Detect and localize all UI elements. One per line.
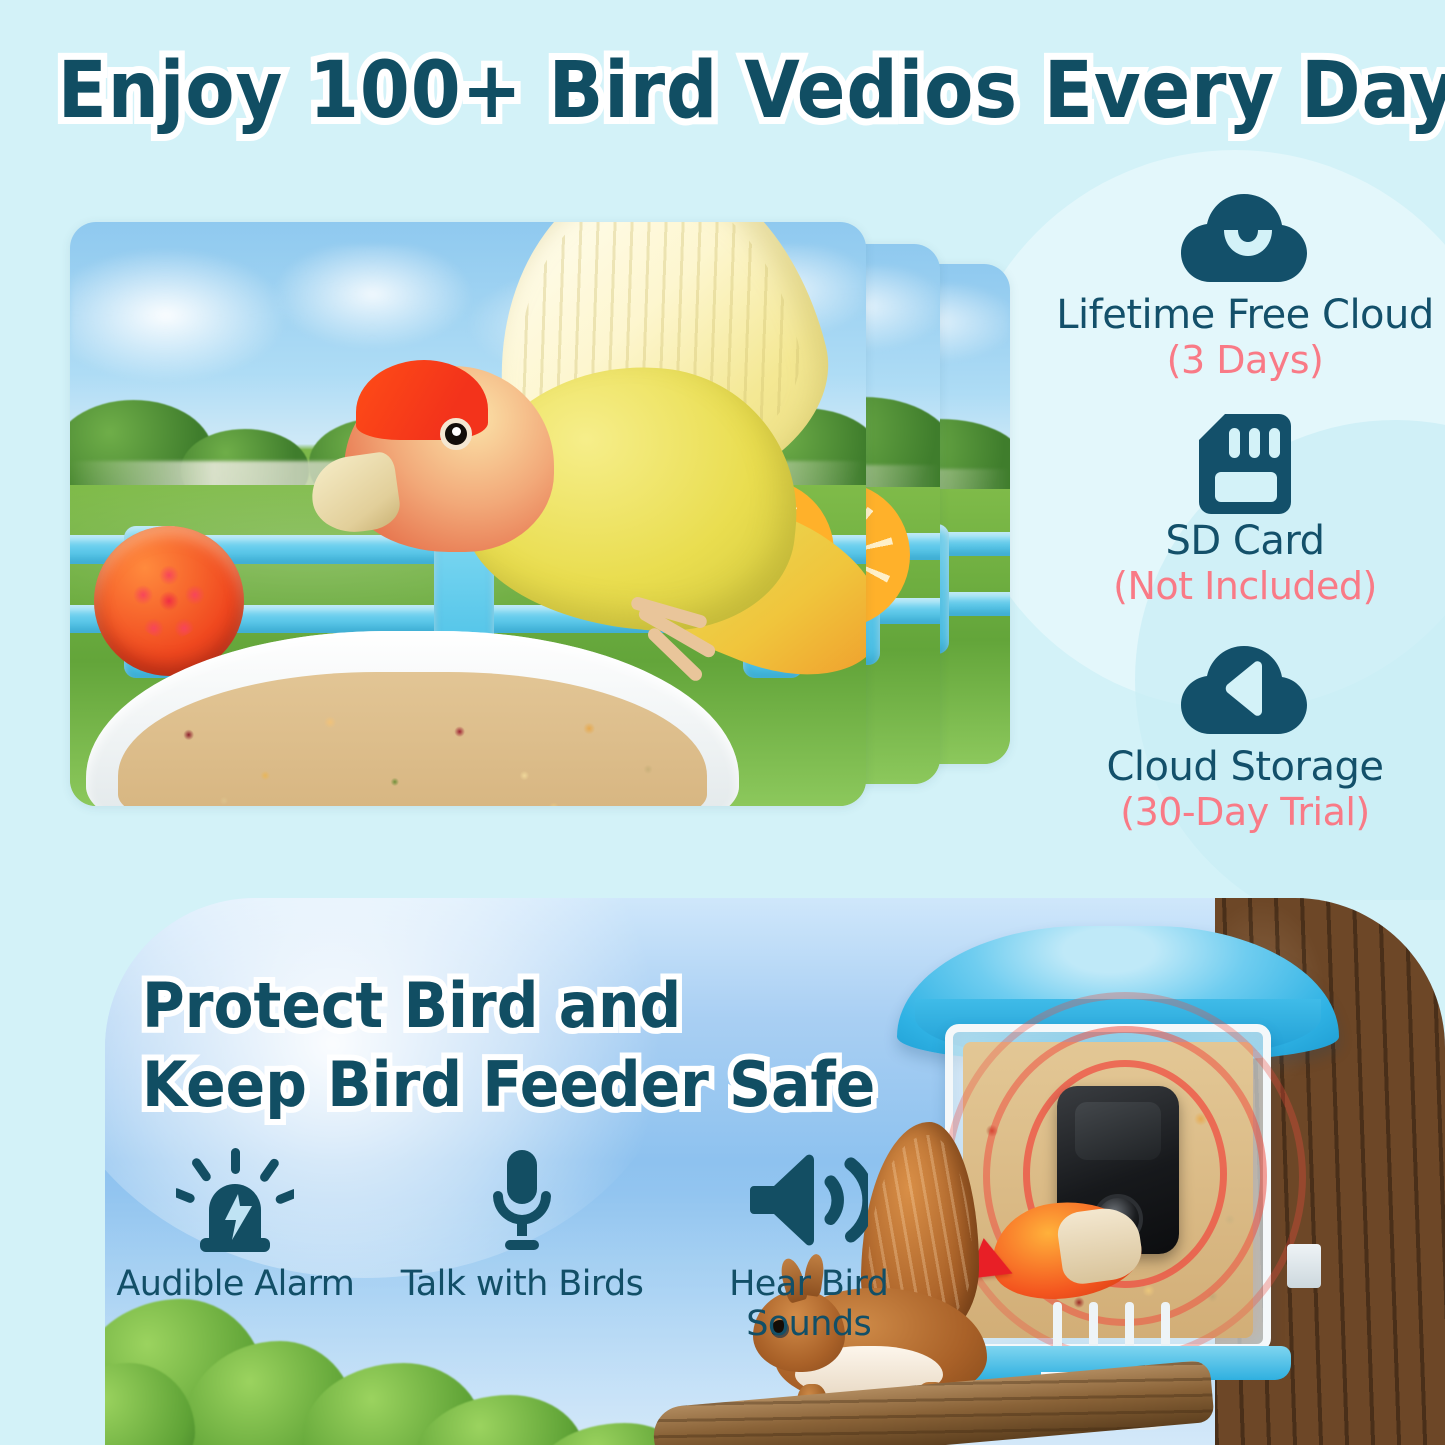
bottom-headline-line2: Keep Bird Feeder Safe [142,1045,988,1124]
feature-subtitle: (30-Day Trial) [1045,790,1445,834]
cloud-playback-icon [1045,638,1445,742]
top-headline: Enjoy 100+ Bird Vedios Every Day [58,46,1387,136]
product-infographic: Enjoy 100+ Bird Vedios Every Day [0,0,1445,1445]
top-section: Enjoy 100+ Bird Vedios Every Day [0,0,1445,900]
sd-card-icon [1045,412,1445,516]
feature-hear-bird-sounds: Hear Bird Sounds [665,1148,952,1344]
feature-talk-with-birds: Talk with Birds [379,1148,666,1344]
bird-photo-gallery [70,222,1010,806]
feature-title: Cloud Storage [1045,744,1445,790]
feature-lifetime-free-cloud: Lifetime Free Cloud (3 Days) [1045,186,1445,382]
bottom-headline: Protect Bird and Keep Bird Feeder Safe [142,966,988,1125]
feature-subtitle: (3 Days) [1045,338,1445,382]
feature-cloud-storage: Cloud Storage (30-Day Trial) [1045,638,1445,834]
feature-subtitle: (Not Included) [1045,564,1445,608]
feature-audible-alarm: Audible Alarm [92,1148,379,1344]
siren-alarm-icon [92,1148,379,1252]
lovebird-subject [300,222,860,806]
feeder-label-badge [1287,1244,1321,1288]
feeder-perch-rails [1053,1302,1173,1350]
feature-title: Lifetime Free Cloud [1045,292,1445,338]
flower-feeder-port [94,526,244,676]
cloud-smile-icon [1045,186,1445,290]
feature-label: Hear Bird Sounds [665,1264,952,1344]
bottom-feature-row: Audible Alarm Talk with Birds [92,1148,952,1344]
feature-label: Talk with Birds [379,1264,666,1304]
speaker-sound-icon [665,1148,952,1252]
main-bird-photo [70,222,866,806]
feature-sd-card: SD Card (Not Included) [1045,412,1445,608]
feature-title: SD Card [1045,518,1445,564]
bottom-headline-line1: Protect Bird and [142,966,988,1045]
microphone-icon [379,1148,666,1252]
feature-label: Audible Alarm [92,1264,379,1304]
cloud-feature-list: Lifetime Free Cloud (3 Days) SD Card (No… [1045,186,1445,864]
